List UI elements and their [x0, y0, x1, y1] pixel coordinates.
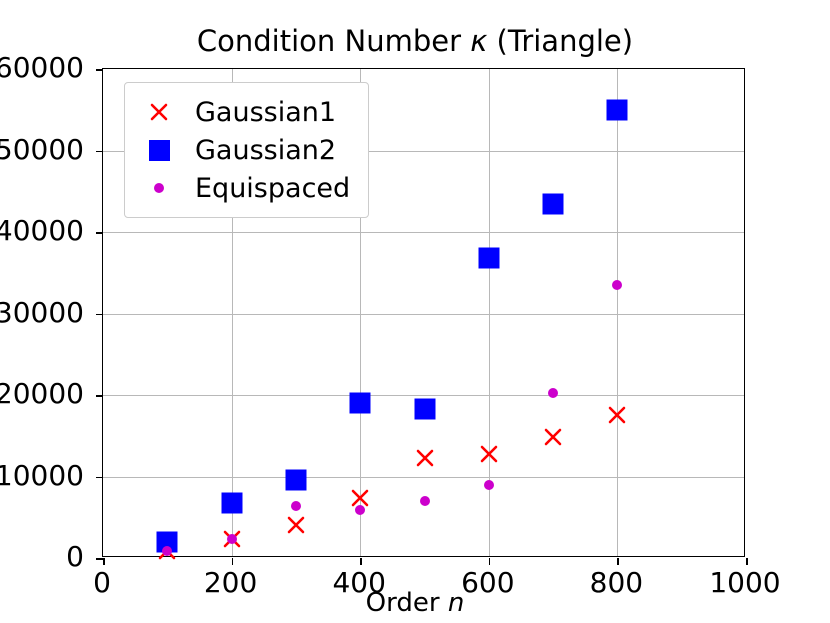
data-point	[420, 496, 430, 506]
data-point	[548, 388, 558, 398]
data-point	[612, 280, 622, 290]
x-tick-mark	[489, 558, 491, 565]
data-point	[543, 194, 564, 215]
data-point	[543, 427, 563, 447]
gridline-vertical	[617, 69, 618, 556]
x-tick-mark	[617, 558, 619, 565]
marker-square	[149, 140, 170, 161]
y-tick-mark	[96, 69, 103, 71]
chart-title-prefix: Condition Number	[197, 24, 470, 58]
y-tick-mark	[96, 558, 103, 560]
legend-item-equispaced[interactable]: Equispaced	[139, 169, 350, 207]
data-point	[414, 398, 435, 419]
data-point	[478, 248, 499, 269]
y-tick-label: 30000	[0, 299, 84, 327]
legend-swatch	[139, 183, 179, 193]
y-tick-label: 40000	[0, 217, 84, 245]
chart-title-kappa-symbol: κ	[470, 24, 487, 58]
y-tick-mark	[96, 314, 103, 316]
gridline-horizontal	[103, 314, 744, 315]
data-point	[291, 501, 301, 511]
legend-swatch	[139, 102, 179, 122]
y-tick-label: 10000	[0, 462, 84, 490]
x-tick-mark	[746, 558, 748, 565]
marker-dot	[154, 183, 164, 193]
chart-title-suffix: (Triangle)	[487, 24, 633, 58]
legend-swatch	[139, 140, 179, 161]
data-point	[350, 393, 371, 414]
marker-cross	[149, 102, 169, 122]
data-point	[227, 534, 237, 544]
y-tick-mark	[96, 477, 103, 479]
data-point	[221, 492, 242, 513]
chart-figure: Condition Number κ (Triangle) 0100002000…	[0, 0, 830, 623]
x-tick-mark	[232, 558, 234, 565]
data-point	[607, 405, 627, 425]
y-tick-label: 60000	[0, 54, 84, 82]
x-tick-mark	[360, 558, 362, 565]
legend-item-gaussian2[interactable]: Gaussian2	[139, 131, 350, 169]
data-point	[484, 480, 494, 490]
data-point	[286, 515, 306, 535]
gridline-horizontal	[103, 232, 744, 233]
y-tick-mark	[96, 395, 103, 397]
chart-legend: Gaussian1Gaussian2Equispaced	[124, 82, 369, 218]
x-tick-mark	[103, 558, 105, 565]
data-point	[162, 546, 172, 556]
data-point	[415, 448, 435, 468]
y-tick-label: 0	[66, 543, 84, 571]
legend-label: Gaussian2	[195, 135, 336, 166]
x-axis-label: Order n	[0, 588, 830, 618]
gridline-horizontal	[103, 477, 744, 478]
chart-title: Condition Number κ (Triangle)	[0, 24, 830, 58]
y-tick-mark	[96, 232, 103, 234]
x-axis-label-text: Order	[366, 588, 448, 618]
data-point	[355, 505, 365, 515]
data-point	[285, 469, 306, 490]
legend-item-gaussian1[interactable]: Gaussian1	[139, 93, 350, 131]
data-point	[607, 99, 628, 120]
y-tick-mark	[96, 151, 103, 153]
gridline-horizontal	[103, 395, 744, 396]
y-tick-label: 20000	[0, 380, 84, 408]
x-axis-label-variable: n	[448, 588, 464, 618]
y-tick-label: 50000	[0, 136, 84, 164]
data-point	[479, 444, 499, 464]
legend-label: Gaussian1	[195, 97, 336, 128]
legend-label: Equispaced	[195, 173, 350, 204]
